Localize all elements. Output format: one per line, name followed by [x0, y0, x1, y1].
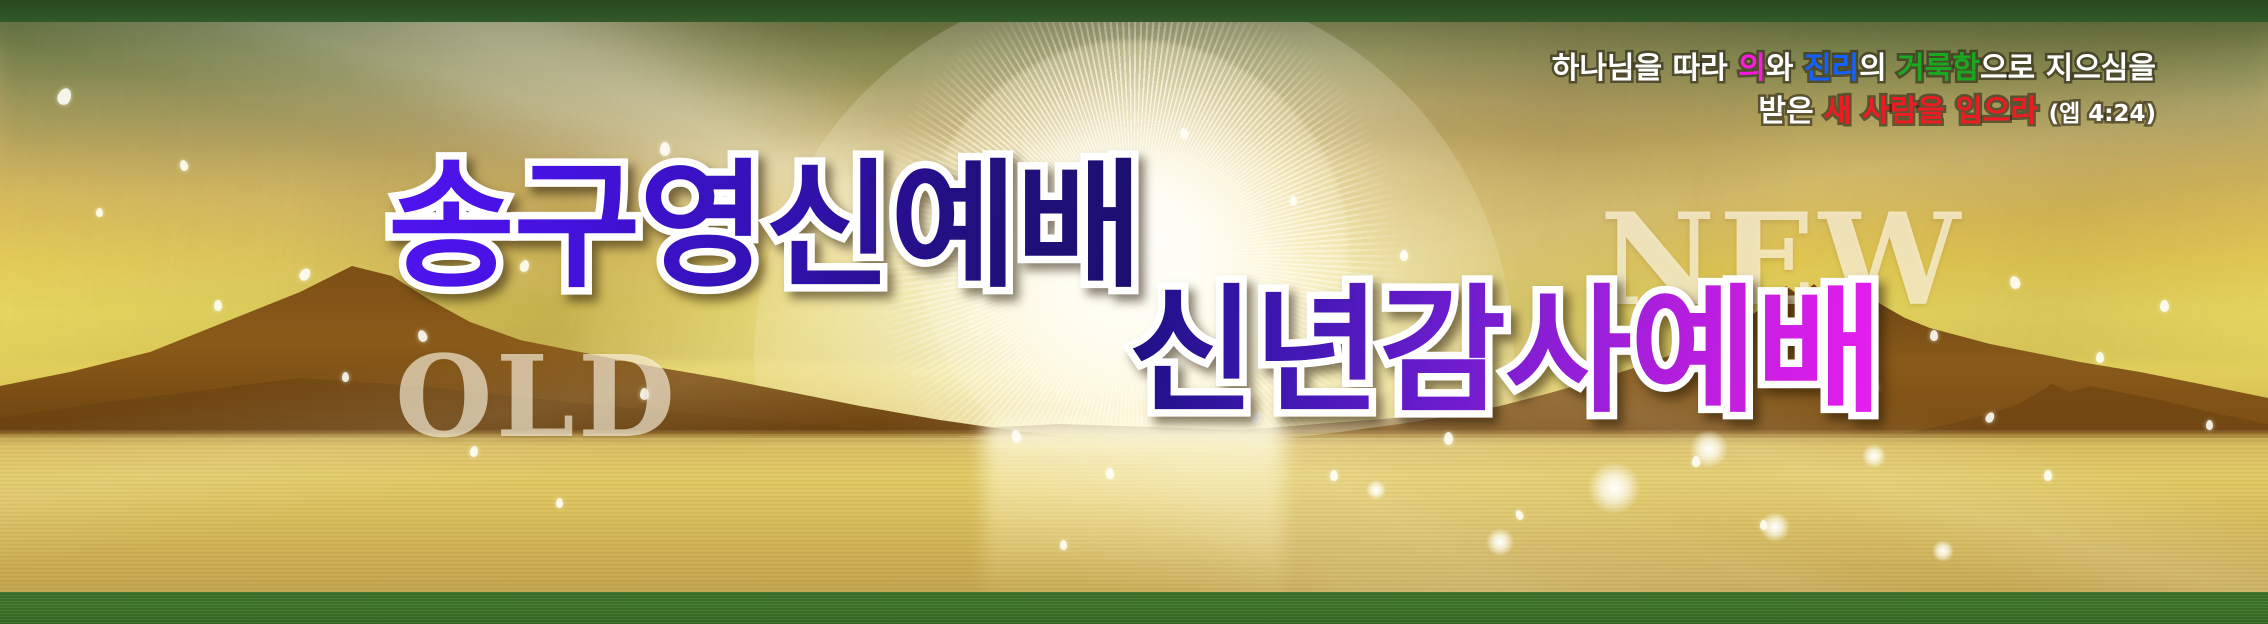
title-sinnyeon-fill: 신년감사예배 [1128, 271, 1881, 432]
verse-reference: (엡 4:24) [2049, 101, 2156, 127]
sun-reflection [984, 420, 1284, 620]
title-sinnyeon-gamsa: 신년감사예배 신년감사예배 [1128, 283, 1881, 421]
verse-line-1: 하나님을 따라 의와 진리의 거룩함으로 지으심을 [1396, 48, 2156, 91]
verse-line-2-text: 받은 새 사람을 입으라 [1758, 94, 2038, 129]
title-songgu-yeongsin: 송구영신예배 송구영신예배 [388, 158, 1141, 296]
verse-line-2: 받은 새 사람을 입으라 (엡 4:24) [1396, 91, 2156, 134]
top-green-bar [0, 0, 2268, 22]
bible-verse: 하나님을 따라 의와 진리의 거룩함으로 지으심을 받은 새 사람을 입으라 (… [1396, 48, 2156, 133]
bottom-green-bar [0, 592, 2268, 624]
title-songgu-fill: 송구영신예배 [388, 146, 1141, 307]
church-banner: OLD NEW 송구영신예배 송구영신예배 신년감사예배 신년감사예배 하나님을… [0, 0, 2268, 624]
ghost-word-old: OLD [395, 332, 679, 463]
